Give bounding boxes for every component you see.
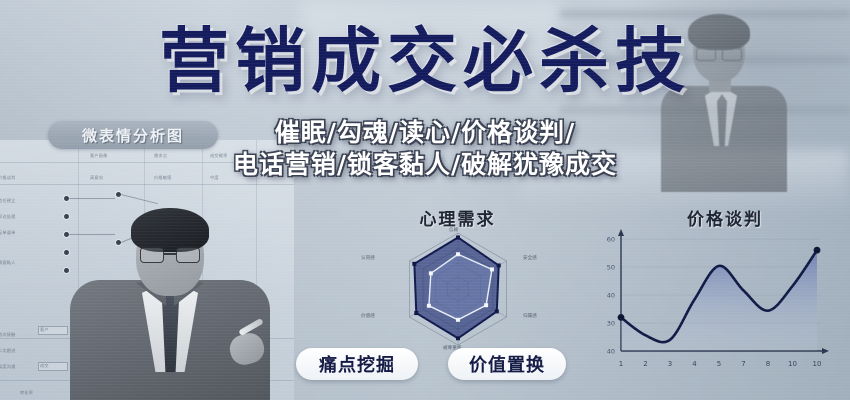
presenter-hair [131,208,209,252]
svg-text:10: 10 [788,360,797,368]
presenter-photo [70,214,270,400]
svg-text:1: 1 [619,360,623,368]
svg-text:7: 7 [741,360,745,368]
svg-text:10: 10 [813,360,822,368]
line-chart-svg: 12345781010 6050403040 [585,225,833,380]
radar-axis-label-1: 安全感 [523,255,537,261]
svg-text:5: 5 [717,360,721,368]
svg-text:2: 2 [643,360,647,368]
svg-text:60: 60 [607,236,615,244]
micro-expression-badge: 微表情分析图 [48,121,218,149]
radar-chart-svg [367,223,549,355]
marketing-banner: 客户画像 需求点 成交概率 跟进 价格谈判 高意向 价格敏感 中度 信任建立 异… [0,0,850,400]
radar-axis-label-0: 信赖 [449,227,458,233]
svg-text:40: 40 [607,292,615,300]
pill-value-exchange[interactable]: 价值置换 [448,348,566,380]
pill-pain-point[interactable]: 痛点挖掘 [296,348,418,380]
page-title: 营销成交必杀技 [0,26,850,96]
radar-axis-label-2: 归属感 [523,313,537,319]
subtitle-line-2: 电话营销/锁客黏人/破解犹豫成交 [0,150,850,181]
svg-text:50: 50 [607,264,615,272]
svg-text:4: 4 [692,360,697,368]
radar-chart: 心理需求 信赖 安全感 归属感 被尊重感 价值感 认同感 [345,205,570,355]
presenter-glasses-icon [140,247,200,263]
svg-text:8: 8 [766,360,770,368]
radar-axis-label-4: 价值感 [361,313,375,319]
svg-text:40: 40 [607,348,615,356]
radar-axis-label-5: 认同感 [361,255,375,261]
svg-text:30: 30 [607,320,615,328]
svg-text:3: 3 [668,360,672,368]
line-chart: 价格谈判 12345781010 6050403040 [585,205,835,385]
